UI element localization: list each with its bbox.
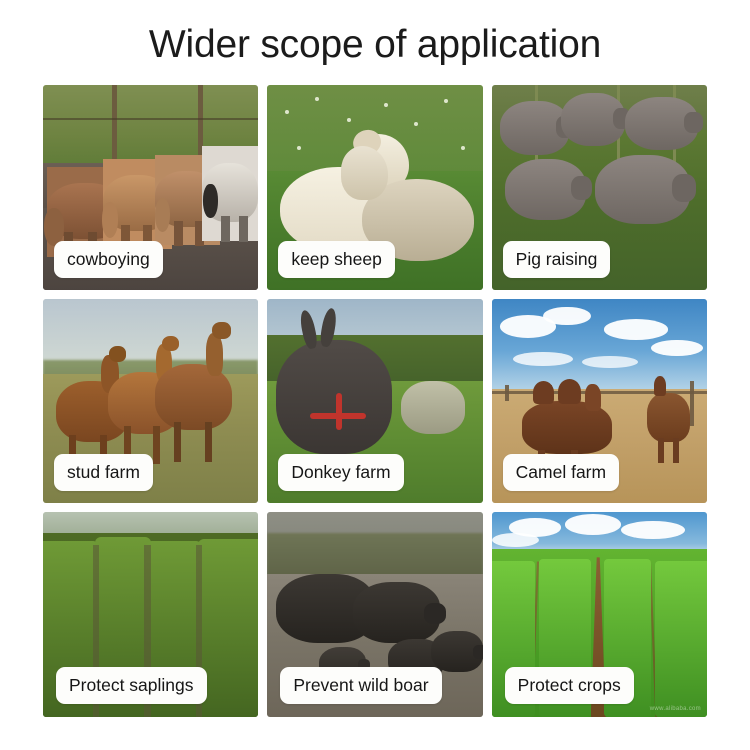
pig	[505, 159, 587, 220]
sapling-row	[198, 539, 258, 717]
cloud	[604, 319, 669, 339]
cow	[202, 146, 258, 240]
tile-stud-farm[interactable]: stud farm	[43, 299, 258, 504]
tile-cowboying[interactable]: cowboying	[43, 85, 258, 290]
tile-caption: Camel farm	[503, 454, 619, 491]
fence-post	[690, 381, 694, 426]
image-watermark: www.alibaba.com	[650, 706, 701, 712]
crop-row	[655, 561, 707, 717]
tile-caption: Protect crops	[505, 667, 634, 704]
tile-caption: Protect saplings	[56, 667, 207, 704]
horse	[155, 364, 233, 429]
boar-piglet	[431, 631, 483, 672]
fence-wire	[43, 118, 258, 120]
tile-caption: cowboying	[54, 241, 163, 278]
tile-camel-farm[interactable]: Camel farm	[492, 299, 707, 504]
tile-pig-raising[interactable]: Pig raising	[492, 85, 707, 290]
tile-caption: Donkey farm	[278, 454, 403, 491]
cloud	[543, 307, 590, 325]
donkey	[401, 381, 466, 434]
poster-root: Wider scope of application	[0, 0, 750, 750]
tile-caption: keep sheep	[278, 241, 395, 278]
tile-keep-sheep[interactable]: keep sheep	[267, 85, 482, 290]
red-halter	[336, 393, 342, 430]
wild-boar	[353, 582, 439, 643]
cloud	[651, 340, 703, 356]
tile-caption: Pig raising	[503, 241, 611, 278]
cloud	[621, 521, 686, 539]
cloud	[565, 514, 621, 534]
fence-post	[505, 385, 509, 401]
camel	[647, 393, 690, 442]
donkey	[276, 340, 392, 455]
camel	[522, 401, 612, 454]
sheep-head	[341, 146, 388, 199]
cloud	[492, 533, 539, 547]
pig	[595, 155, 690, 225]
tile-caption: stud farm	[54, 454, 153, 491]
application-grid: cowboying keep sheep	[43, 85, 707, 717]
tile-donkey-farm[interactable]: Donkey farm	[267, 299, 482, 504]
tile-protect-crops[interactable]: www.alibaba.com Protect crops	[492, 512, 707, 717]
pig	[561, 93, 626, 146]
tile-protect-saplings[interactable]: Protect saplings	[43, 512, 258, 717]
pig	[500, 101, 569, 154]
pig	[625, 97, 698, 150]
page-title: Wider scope of application	[0, 22, 750, 68]
tile-prevent-wild-boar[interactable]: Prevent wild boar	[267, 512, 482, 717]
tile-caption: Prevent wild boar	[280, 667, 441, 704]
